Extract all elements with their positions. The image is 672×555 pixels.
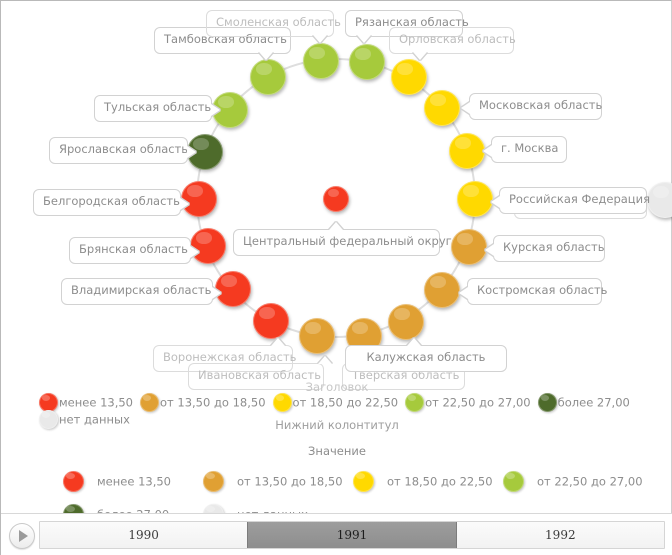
timeline-year-cell[interactable]: 1990	[40, 522, 247, 548]
node-label-text: Воронежская область	[163, 350, 296, 364]
timeline-year-cell[interactable]: 1991	[247, 522, 456, 548]
legend-label: более 27,00	[558, 396, 630, 410]
center-node[interactable]	[323, 186, 349, 212]
node-label-text: Московская область	[479, 98, 602, 112]
legend-label: от 18,50 до 22,50	[387, 475, 493, 489]
node-label-text: Орловская область	[399, 32, 516, 46]
callout-tail	[485, 244, 494, 256]
node-label-callout[interactable]: Ярославская область	[49, 137, 188, 164]
node-label-text: Курская область	[503, 240, 604, 254]
node-label-callout[interactable]: Орловская область	[389, 27, 514, 54]
legend-item[interactable]: от 22,50 до 27,00	[405, 393, 531, 412]
data-node[interactable]	[424, 90, 460, 126]
legend-row: менее 13,50от 13,50 до 18,50от 18,50 до …	[63, 471, 672, 504]
node-label-text: Калужская область	[367, 350, 486, 364]
legend-label: от 13,50 до 18,50	[237, 475, 343, 489]
callout-tail	[491, 196, 500, 208]
legend-item[interactable]: от 13,50 до 18,50	[140, 393, 266, 412]
legend-swatch	[503, 471, 524, 492]
legend-swatch	[203, 471, 224, 492]
data-node[interactable]	[391, 59, 427, 95]
node-label-callout[interactable]: Брянская область	[69, 237, 191, 264]
legend-label: от 13,50 до 18,50	[160, 396, 266, 410]
data-node[interactable]	[250, 59, 286, 95]
data-node[interactable]	[253, 303, 289, 339]
legend-label: менее 13,50	[97, 475, 171, 489]
node-label-text: Ярославская область	[59, 142, 188, 156]
node-label-text: Российская Федерация	[509, 192, 650, 206]
legend-item[interactable]: от 22,50 до 27,00	[503, 471, 643, 492]
data-node[interactable]	[457, 181, 493, 217]
visualization-window: Тамбовская областьСмоленская областьРяза…	[0, 0, 672, 555]
callout-tail	[483, 145, 492, 157]
legend-item[interactable]: менее 13,50	[63, 471, 171, 492]
node-label-callout[interactable]: Калужская область	[345, 345, 507, 372]
play-button[interactable]	[9, 523, 35, 549]
legend-swatch	[63, 471, 84, 492]
node-label-callout[interactable]: Российская Федерация	[499, 187, 647, 214]
data-node[interactable]	[424, 272, 460, 308]
node-label-callout[interactable]: г. Москва	[491, 136, 567, 163]
play-icon	[19, 530, 28, 542]
node-label-text: Брянская область	[79, 242, 188, 256]
data-node[interactable]	[388, 304, 424, 340]
data-node[interactable]	[451, 229, 487, 265]
legend-swatch	[273, 393, 292, 412]
legend-item[interactable]: от 13,50 до 18,50	[203, 471, 343, 492]
center-node-label: Центральный федеральный округ	[243, 234, 452, 248]
legend-label: от 18,50 до 22,50	[293, 396, 399, 410]
node-label-callout[interactable]: Тульская область	[94, 95, 212, 122]
node-label-text: г. Москва	[501, 141, 558, 155]
timeline-slider[interactable]: 199019911992	[1, 513, 672, 555]
legend-item[interactable]: от 18,50 до 22,50	[353, 471, 493, 492]
callout-tail	[459, 287, 468, 299]
timeline-track[interactable]: 199019911992	[39, 521, 665, 549]
node-label-callout[interactable]: Владимирская область	[61, 278, 213, 305]
legend-swatch	[538, 393, 557, 412]
data-node[interactable]	[299, 318, 335, 354]
callout-tail	[313, 35, 327, 43]
callout-tail	[329, 222, 343, 230]
callout-tail	[357, 35, 371, 43]
legend-swatch	[405, 393, 424, 412]
callout-tail	[413, 52, 427, 60]
callout-tail	[407, 338, 421, 346]
node-label-text: Костромская область	[477, 283, 607, 297]
node-label-callout[interactable]: Курская область	[493, 235, 605, 262]
data-node[interactable]	[303, 43, 339, 79]
legend-swatch	[353, 471, 374, 492]
node-label-callout[interactable]: Московская область	[469, 93, 602, 120]
callout-tail	[187, 146, 196, 158]
chart-title: Заголовок	[1, 380, 672, 391]
legend-item[interactable]: более 27,00	[538, 393, 630, 412]
callout-tail	[211, 104, 220, 116]
node-label-callout[interactable]: Костромская область	[467, 278, 602, 305]
center-node-callout[interactable]: Центральный федеральный округ	[233, 229, 440, 256]
node-label-text: Смоленская область	[216, 15, 341, 29]
legend-label: от 22,50 до 27,00	[537, 475, 643, 489]
legend-swatch	[140, 393, 159, 412]
callout-tail	[461, 102, 470, 114]
legend-label: менее 13,50	[59, 396, 133, 410]
node-label-text: Белгородская область	[43, 194, 180, 208]
node-label-callout[interactable]: Белгородская область	[33, 189, 181, 216]
legend-main-title: Значение	[1, 444, 672, 458]
node-label-text: Владимирская область	[71, 283, 211, 297]
callout-tail	[271, 338, 285, 346]
timeline-year-cell[interactable]: 1992	[457, 522, 664, 548]
chart-footer: Нижний колонтитул	[1, 418, 672, 432]
callout-tail	[259, 52, 273, 60]
callout-tail	[180, 198, 189, 210]
node-label-text: Тульская область	[104, 100, 211, 114]
node-label-callout[interactable]: Смоленская область	[206, 10, 334, 37]
radial-chart-canvas[interactable]: Тамбовская областьСмоленская областьРяза…	[1, 1, 672, 391]
legend-item[interactable]: от 18,50 до 22,50	[273, 393, 399, 412]
callout-tail	[190, 246, 199, 258]
data-node[interactable]	[349, 44, 385, 80]
callout-tail	[318, 356, 332, 364]
callout-tail	[212, 287, 221, 299]
legend-label: от 22,50 до 27,00	[425, 396, 531, 410]
data-node[interactable]	[449, 133, 485, 169]
